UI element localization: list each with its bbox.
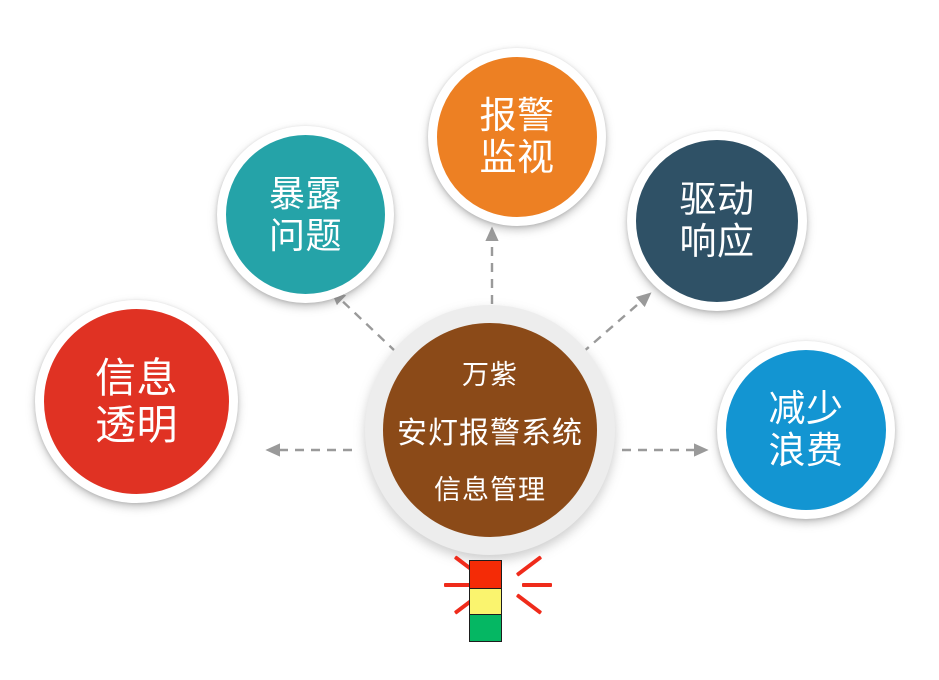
diagram-canvas: 万紫 安灯报警系统 信息管理 报警 监视 暴露 问题 驱动 响应 信息 透明 减… — [0, 0, 939, 680]
hub-label-line1: 万紫 — [462, 353, 518, 392]
node-information-transparency[interactable]: 信息 透明 — [35, 300, 238, 503]
flash-ray-mid-right — [522, 583, 552, 587]
hub-label-line2: 安灯报警系统 — [397, 408, 583, 452]
node-reduce-waste-line1: 减少 — [769, 388, 844, 430]
andon-lamp-red — [470, 561, 501, 588]
hub-andon-system[interactable]: 万紫 安灯报警系统 信息管理 — [383, 323, 597, 537]
andon-light-tower[interactable] — [440, 548, 556, 652]
node-drive-response[interactable]: 驱动 响应 — [627, 131, 807, 311]
node-expose-problems-line2: 问题 — [269, 215, 342, 256]
andon-lamp-green — [470, 614, 501, 641]
node-reduce-waste[interactable]: 减少 浪费 — [717, 341, 895, 519]
node-alarm-monitor-line1: 报警 — [480, 95, 555, 137]
andon-lamp-stack — [469, 560, 502, 642]
node-reduce-waste-line2: 浪费 — [769, 430, 844, 472]
connector-arrow-up-left — [337, 296, 396, 352]
node-drive-response-line1: 驱动 — [680, 179, 755, 221]
node-alarm-monitor[interactable]: 报警 监视 — [428, 48, 606, 226]
flash-ray-lower-right — [516, 593, 542, 614]
flash-ray-upper-right — [516, 555, 542, 576]
node-information-transparency-line2: 透明 — [95, 402, 178, 449]
connector-arrow-up-right — [582, 298, 645, 353]
node-expose-problems[interactable]: 暴露 问题 — [217, 126, 394, 303]
hub-label-line3: 信息管理 — [434, 468, 546, 507]
node-alarm-monitor-line2: 监视 — [480, 137, 555, 179]
node-drive-response-line2: 响应 — [680, 221, 755, 263]
andon-lamp-yellow — [470, 588, 501, 615]
node-information-transparency-line1: 信息 — [95, 355, 178, 402]
node-expose-problems-line1: 暴露 — [269, 173, 342, 214]
